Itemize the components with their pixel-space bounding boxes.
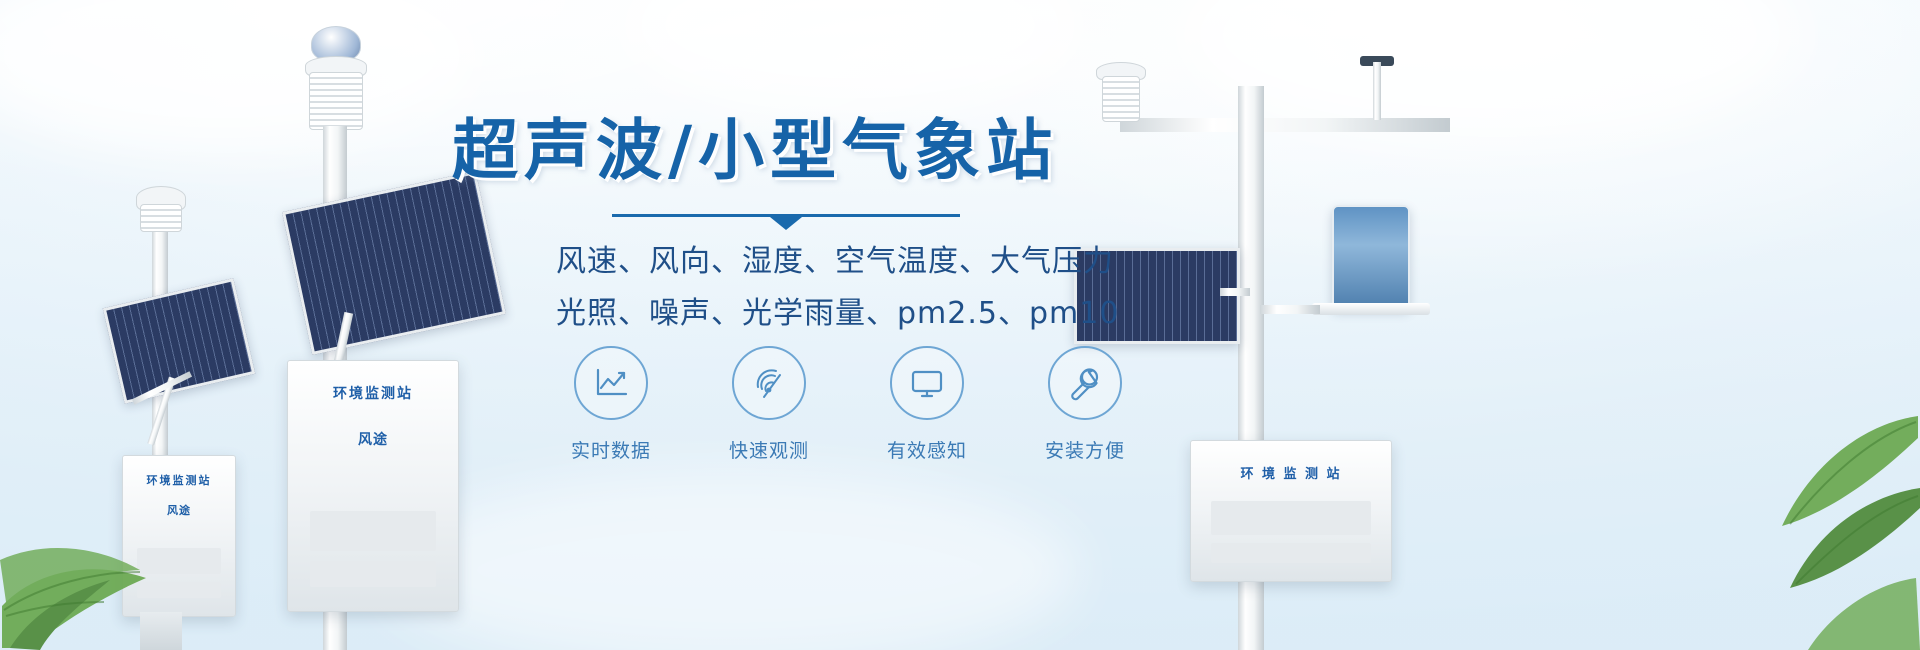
title-divider — [612, 214, 960, 230]
feature-item-easy-install[interactable]: 安装方便 — [1030, 346, 1140, 463]
radiation-shield — [1102, 76, 1140, 122]
leaf-decoration-right — [1640, 320, 1920, 650]
feature-item-effective-sensing[interactable]: 有效感知 — [872, 346, 982, 463]
feature-item-fast-observation[interactable]: 快速观测 — [714, 346, 824, 463]
solar-panel — [282, 171, 506, 355]
feature-label: 实时数据 — [556, 436, 666, 463]
equipment-cabinet: 环境监测站 风途 — [287, 360, 459, 612]
feature-label: 快速观测 — [714, 436, 824, 463]
cabinet-vent — [310, 561, 436, 587]
cabinet-vent — [1211, 543, 1371, 563]
leaf-decoration-left — [0, 420, 210, 650]
page-title: 超声波/小型气象站 — [452, 118, 1058, 184]
equipment-cabinet: 环 境 监 测 站 — [1190, 440, 1392, 582]
radar-signal-icon — [732, 346, 806, 420]
cabinet-brand: 风途 — [288, 429, 458, 449]
feature-label: 安装方便 — [1030, 436, 1140, 463]
subtitle-line-1: 风速、风向、湿度、空气温度、大气压力 — [556, 236, 1576, 280]
cloud-decoration — [620, 0, 1080, 110]
cabinet-vent — [310, 511, 436, 551]
cabinet-label: 环 境 监 测 站 — [1191, 463, 1391, 482]
radiation-shield — [309, 72, 363, 130]
sensor-post — [1373, 62, 1381, 120]
cabinet-label: 环境监测站 — [288, 383, 458, 403]
product-banner: 环境监测站 风途 环境监测站 风途 — [0, 0, 1920, 650]
cross-arm — [1120, 118, 1450, 132]
feature-label: 有效感知 — [872, 436, 982, 463]
radiation-shield — [140, 204, 182, 232]
cabinet-vent — [1211, 501, 1371, 535]
feature-item-realtime-data[interactable]: 实时数据 — [556, 346, 666, 463]
wrench-icon — [1048, 346, 1122, 420]
feature-list: 实时数据 快速观测 有效感知 — [556, 346, 1140, 463]
monitor-icon — [890, 346, 964, 420]
subtitle-line-2: 光照、噪声、光学雨量、pm2.5、pm10 — [556, 288, 1576, 332]
line-chart-icon — [574, 346, 648, 420]
divider-triangle-icon — [770, 217, 802, 230]
solar-panel — [103, 278, 256, 404]
